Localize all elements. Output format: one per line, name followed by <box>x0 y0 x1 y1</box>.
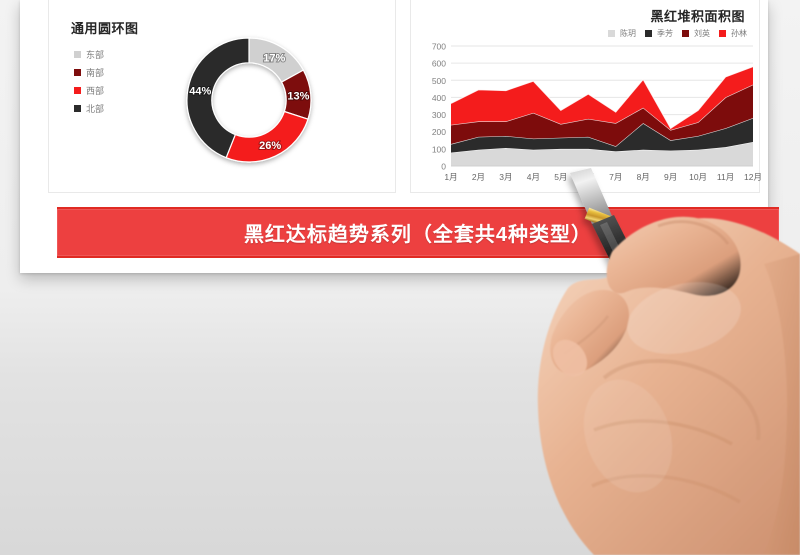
svg-text:6月: 6月 <box>582 172 595 182</box>
svg-text:26%: 26% <box>259 140 281 152</box>
svg-text:0: 0 <box>441 162 446 172</box>
svg-text:5月: 5月 <box>554 172 567 182</box>
svg-text:10月: 10月 <box>689 172 707 182</box>
donut-chart-graphic: 17%13%26%44% <box>49 0 397 193</box>
screenshot-canvas: 通用圆环图 东部 南部 西部 北部 <box>0 0 800 555</box>
svg-text:400: 400 <box>432 93 446 103</box>
series-banner-text: 黑红达标趋势系列（全套共4种类型） <box>244 218 592 247</box>
svg-text:100: 100 <box>432 144 446 154</box>
svg-text:2月: 2月 <box>472 172 485 182</box>
svg-text:12月: 12月 <box>744 172 761 182</box>
svg-text:8月: 8月 <box>637 172 650 182</box>
svg-text:17%: 17% <box>263 52 285 64</box>
svg-text:700: 700 <box>432 42 446 52</box>
svg-text:44%: 44% <box>189 86 211 98</box>
svg-text:9月: 9月 <box>664 172 677 182</box>
series-banner: 黑红达标趋势系列（全套共4种类型） <box>57 207 779 258</box>
svg-text:7月: 7月 <box>609 172 622 182</box>
svg-text:4月: 4月 <box>527 172 540 182</box>
svg-text:500: 500 <box>432 76 446 86</box>
svg-text:3月: 3月 <box>499 172 512 182</box>
area-chart-graphic: 0100200300400500600700 1月2月3月4月5月6月7月8月9… <box>411 0 761 193</box>
svg-text:200: 200 <box>432 127 446 137</box>
svg-text:11月: 11月 <box>717 172 734 182</box>
donut-chart-card: 通用圆环图 东部 南部 西部 北部 <box>48 0 396 193</box>
svg-text:600: 600 <box>432 59 446 69</box>
svg-text:13%: 13% <box>287 90 309 102</box>
svg-text:300: 300 <box>432 110 446 120</box>
slide-page: 通用圆环图 东部 南部 西部 北部 <box>20 0 768 273</box>
area-chart-card: 黑红堆积面积图 陈玥 季芳 刘英 孙林 <box>410 0 760 193</box>
svg-text:1月: 1月 <box>444 172 457 182</box>
